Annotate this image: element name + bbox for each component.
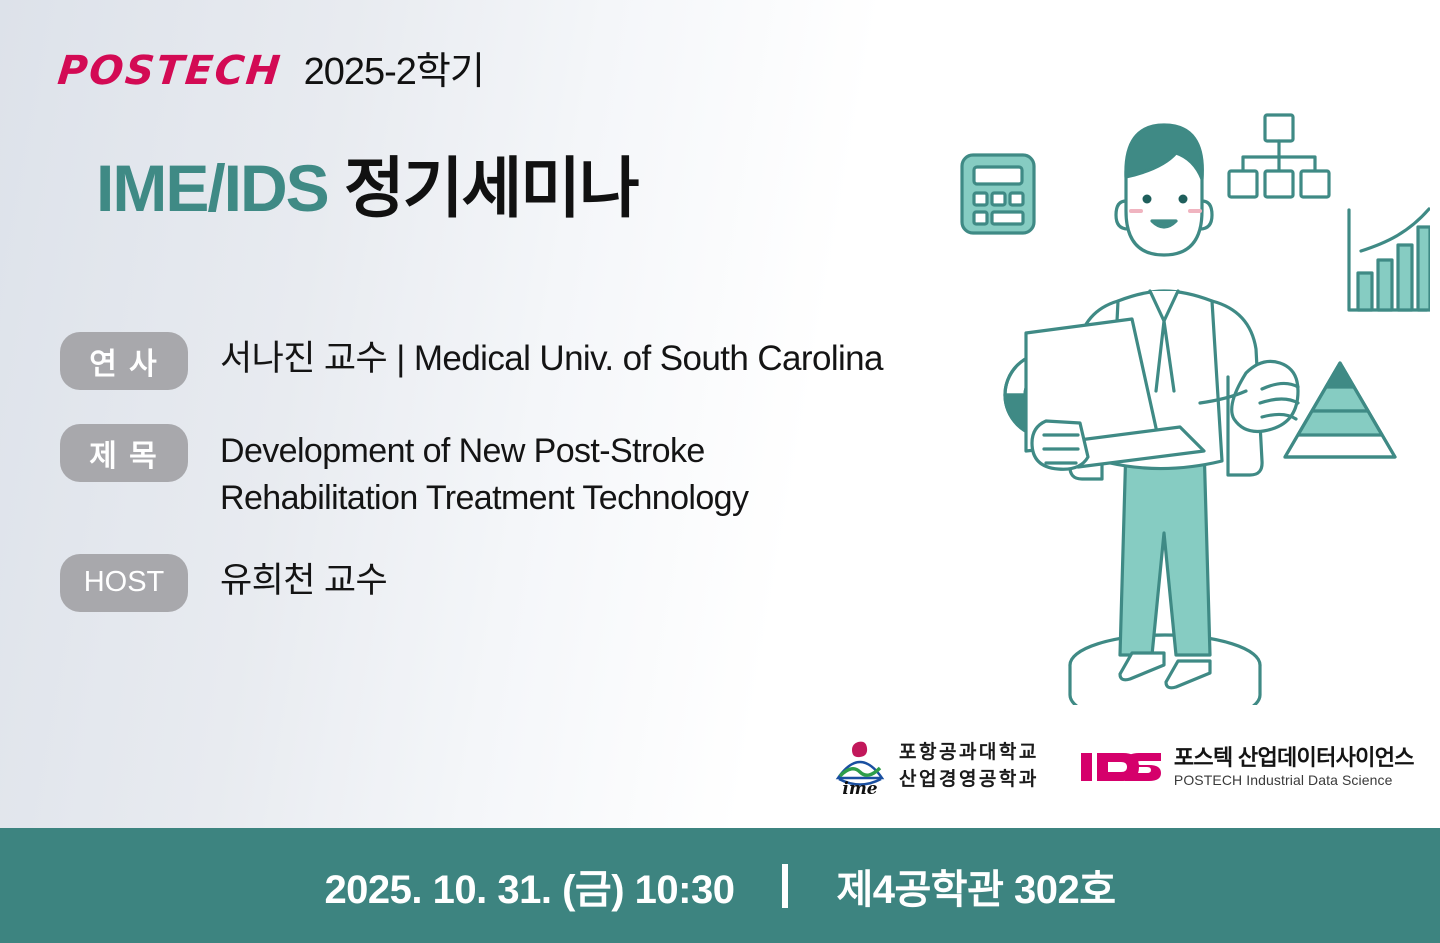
presenter-left-hand xyxy=(1032,421,1088,469)
value-host: 유희천 교수 xyxy=(220,554,387,605)
ime-logo-line1: 포항공과대학교 xyxy=(899,740,1039,767)
org-chart-icon xyxy=(1229,115,1329,197)
label-topic: 제 목 xyxy=(60,424,188,482)
value-speaker: 서나진 교수 | Medical Univ. of South Carolina xyxy=(220,332,883,383)
label-host: HOST xyxy=(60,554,188,612)
info-row-topic: 제 목 Development of New Post-Stroke Rehab… xyxy=(60,424,990,522)
ime-mark-text: ime xyxy=(842,779,877,796)
ime-logo: ime 포항공과대학교 산업경영공학과 xyxy=(832,738,1039,796)
footer-bar: 2025. 10. 31. (금) 10:30 제4공학관 302호 xyxy=(0,828,1440,943)
presenter-illustration xyxy=(940,105,1430,705)
logo-row: ime 포항공과대학교 산업경영공학과 포스텍 산업데이터사이언스 POSTEC… xyxy=(832,738,1414,796)
label-speaker: 연 사 xyxy=(60,332,188,390)
seminar-poster: POSTECH 2025-2학기 IME/IDS 정기세미나 연 사 서나진 교… xyxy=(0,0,1440,943)
calculator-icon xyxy=(962,155,1034,233)
info-row-speaker: 연 사 서나진 교수 | Medical Univ. of South Caro… xyxy=(60,332,990,390)
ids-logo-english: POSTECH Industrial Data Science xyxy=(1174,771,1414,789)
presenter-head xyxy=(1116,125,1212,255)
pyramid-chart-icon xyxy=(1285,363,1395,457)
info-block: 연 사 서나진 교수 | Medical Univ. of South Caro… xyxy=(60,332,990,646)
ids-mark-icon xyxy=(1081,747,1161,787)
footer-location: 제4공학관 302호 xyxy=(836,857,1115,915)
pedestal xyxy=(1070,635,1260,705)
page-title: IME/IDS 정기세미나 xyxy=(96,135,638,231)
ids-logo-text: 포스텍 산업데이터사이언스 POSTECH Industrial Data Sc… xyxy=(1174,745,1414,789)
value-topic: Development of New Post-Stroke Rehabilit… xyxy=(220,424,748,522)
ime-logo-line2: 산업경영공학과 xyxy=(899,767,1039,794)
footer-separator xyxy=(782,864,788,908)
page-title-accent: IME/IDS xyxy=(96,151,328,225)
brand-row: POSTECH 2025-2학기 xyxy=(58,40,484,95)
postech-wordmark: POSTECH xyxy=(56,48,284,94)
ime-logo-text: 포항공과대학교 산업경영공학과 xyxy=(899,740,1039,794)
presenter-legs xyxy=(1120,445,1210,655)
ids-logo-korean: 포스텍 산업데이터사이언스 xyxy=(1174,745,1414,771)
ime-mark-icon: ime xyxy=(832,738,888,796)
info-row-host: HOST 유희천 교수 xyxy=(60,554,990,612)
page-title-rest: 정기세미나 xyxy=(344,151,638,225)
footer-datetime: 2025. 10. 31. (금) 10:30 xyxy=(324,857,734,915)
semester-label: 2025-2학기 xyxy=(304,40,484,95)
ids-logo: 포스텍 산업데이터사이언스 POSTECH Industrial Data Sc… xyxy=(1081,745,1414,789)
bar-chart-icon xyxy=(1349,209,1430,310)
